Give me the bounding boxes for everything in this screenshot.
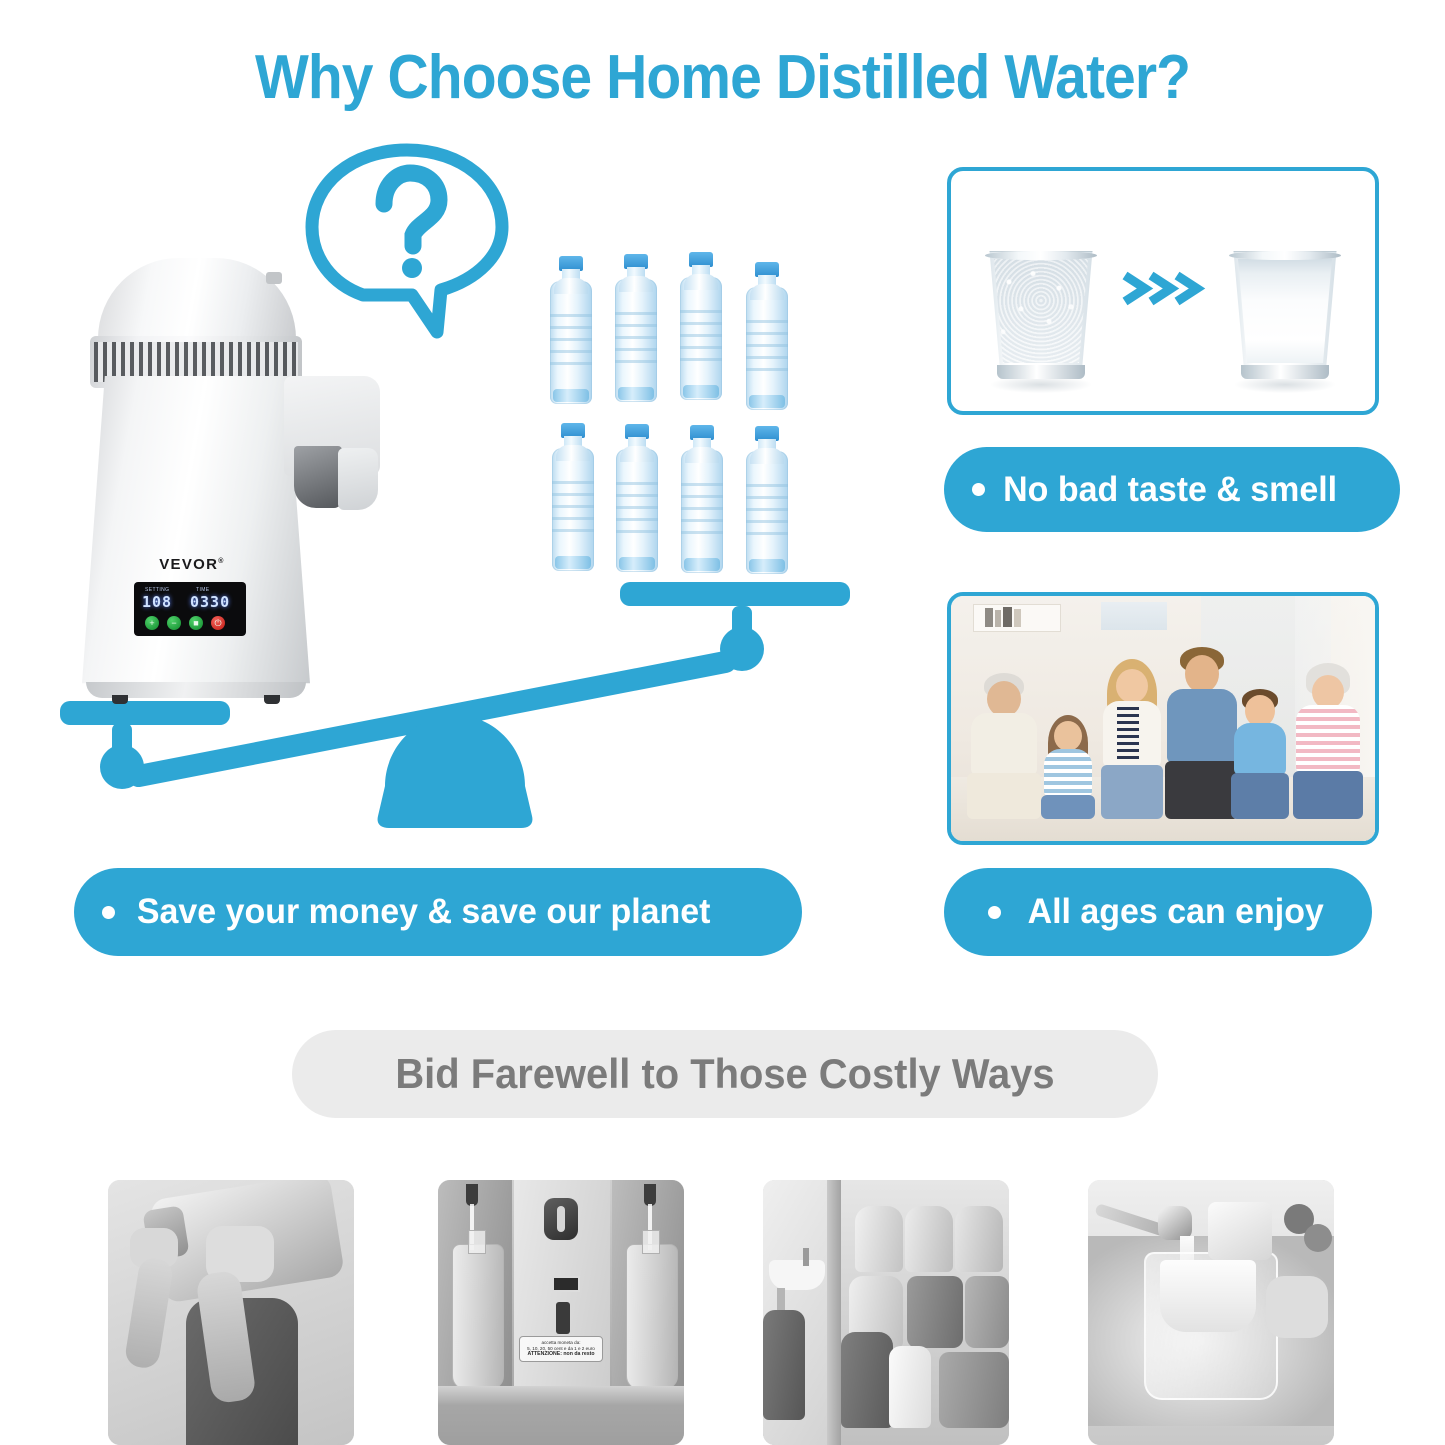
glass-bottle-right [626, 1244, 678, 1390]
photo-water-vending-machine: accetta moneta da: 5, 10, 20, 50 cent e … [438, 1180, 684, 1445]
water-bottle [679, 425, 725, 573]
machine-tray [438, 1386, 684, 1406]
water-bottle [613, 254, 659, 402]
power-button[interactable]: ⏻ [211, 616, 225, 630]
pill-all-ages: All ages can enjoy [944, 868, 1372, 956]
triple-chevron-right-icon [1117, 268, 1209, 315]
water-jug [855, 1206, 903, 1272]
photo-stacked-water-jugs [763, 1180, 1009, 1445]
pill-no-bad-taste: No bad taste & smell [944, 447, 1400, 532]
faucet-head [1158, 1206, 1192, 1240]
photo-carrying-water-jug [108, 1180, 354, 1445]
bottle-neck-left [468, 1230, 486, 1254]
hand [1266, 1276, 1328, 1338]
page-title: Why Choose Home Distilled Water? [58, 42, 1387, 113]
coin-return [556, 1302, 570, 1334]
filter-funnel [1160, 1260, 1256, 1332]
distiller-spout-cover [338, 448, 378, 510]
book [1014, 609, 1021, 627]
pill-label: Save your money & save our planet [137, 892, 711, 932]
water-bottle [548, 256, 594, 404]
book [1003, 607, 1012, 627]
water-jug-dark [907, 1276, 963, 1348]
water-jug [905, 1206, 953, 1272]
water-jug-dark [965, 1276, 1009, 1348]
minus-button[interactable]: − [167, 616, 181, 630]
glass-comparison-photo [947, 167, 1379, 415]
time-value: 0330 [190, 593, 230, 611]
family-photo [947, 592, 1379, 845]
section-banner: Bid Farewell to Those Costly Ways [292, 1030, 1158, 1118]
machine-instruction-label: accetta moneta da: 5, 10, 20, 50 cent e … [519, 1336, 603, 1362]
plastic-bottles-group [548, 248, 810, 578]
bottle-neck-right [642, 1230, 660, 1254]
pill-save-money: Save your money & save our planet [74, 868, 802, 956]
distiller-spout-nozzle [294, 446, 342, 508]
lid-latch-icon [266, 272, 282, 284]
infographic-canvas: Why Choose Home Distilled Water? [0, 0, 1445, 1445]
water-bottle [744, 262, 790, 410]
minus-icon: − [167, 616, 181, 630]
water-bottle [614, 424, 660, 572]
person-mother [1099, 659, 1165, 819]
fruit [1304, 1224, 1332, 1252]
photo-filter-pitcher-tap [1088, 1180, 1334, 1445]
set-button[interactable]: ■ [189, 616, 203, 630]
section-banner-label: Bid Farewell to Those Costly Ways [395, 1050, 1054, 1098]
brand-text: VEVOR [159, 556, 218, 573]
control-panel[interactable]: SETTING TIME 108 0330 + − ■ ⏻ [134, 582, 246, 636]
sink [769, 1260, 825, 1290]
door-frame [827, 1180, 841, 1445]
water-jug [955, 1206, 1003, 1272]
nozzle-left [466, 1184, 478, 1206]
plus-button[interactable]: + [145, 616, 159, 630]
distiller-foot-right [264, 695, 280, 704]
wall-frame [1101, 602, 1167, 630]
nozzle-right [644, 1184, 656, 1206]
set-icon: ■ [189, 616, 203, 630]
coin-slot [557, 1206, 565, 1232]
water-jug-dark [939, 1352, 1009, 1428]
brand-logo: VEVOR® [142, 556, 242, 573]
person-grandmother [1291, 663, 1365, 819]
pill-label: All ages can enjoy [1027, 892, 1323, 932]
water-jug-dark [763, 1310, 805, 1420]
bullet-dot-icon [972, 483, 985, 496]
distiller-tank [82, 376, 310, 696]
water-distiller-product: VEVOR® SETTING TIME 108 0330 + − ■ ⏻ [68, 258, 378, 718]
power-icon: ⏻ [211, 616, 225, 630]
bullet-dot-icon [102, 906, 115, 919]
filter-cartridge [1208, 1202, 1272, 1260]
water-jug-white [889, 1346, 931, 1428]
registered-mark: ® [218, 558, 224, 565]
water-bottle [550, 423, 596, 571]
book [985, 608, 993, 627]
water-bottle [678, 252, 724, 400]
clear-water-glass [1229, 251, 1341, 377]
glass-bottle-left [452, 1244, 504, 1390]
person-grandfather [967, 669, 1041, 819]
distiller-foot-left [112, 695, 128, 704]
book [995, 610, 1001, 627]
person-girl [1039, 693, 1097, 819]
person-boy [1229, 681, 1291, 819]
water-bottle [744, 426, 790, 574]
faucet [803, 1248, 809, 1266]
setting-value: 108 [142, 593, 172, 611]
pill-label: No bad taste & smell [1003, 470, 1337, 510]
plus-icon: + [145, 616, 159, 630]
cloudy-water-glass [985, 251, 1097, 377]
display-window [552, 1276, 580, 1292]
bullet-dot-icon [988, 906, 1001, 919]
water-jug-dark [841, 1332, 893, 1428]
